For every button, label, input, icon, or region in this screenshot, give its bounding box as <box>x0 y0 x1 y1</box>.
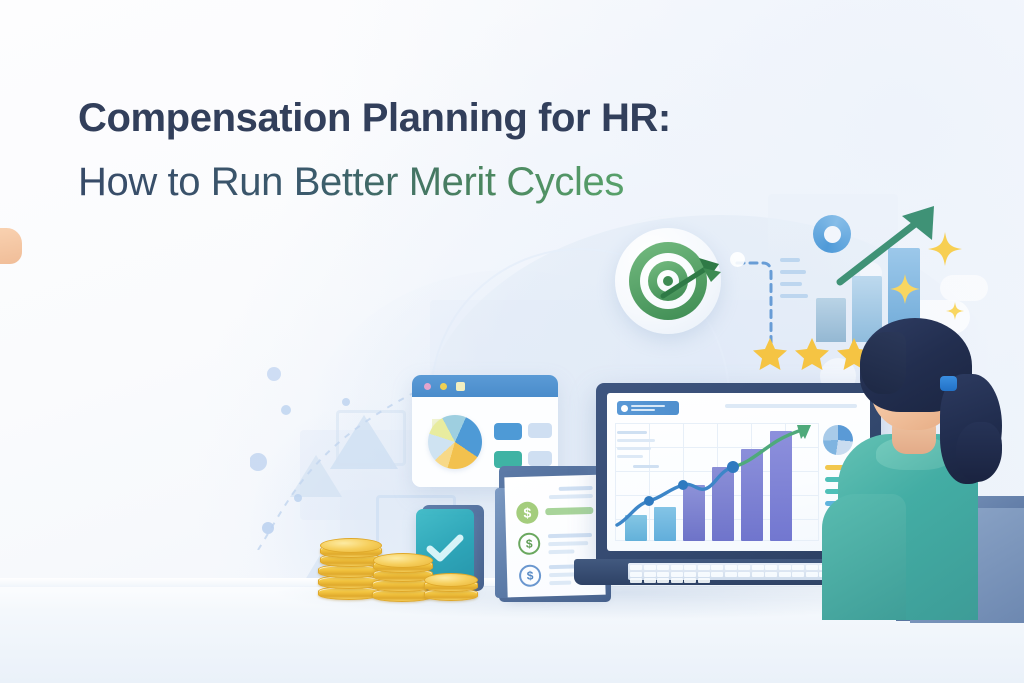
dashboard-plot-grid <box>615 423 819 541</box>
hair-tie <box>940 376 957 391</box>
star-icon-1 <box>752 336 788 372</box>
target-icon <box>615 228 721 334</box>
coin-s1-top <box>320 538 382 553</box>
dashboard-header-badge <box>617 401 679 415</box>
dashboard-header-line-2 <box>631 409 655 411</box>
browser-pie-chart <box>428 415 482 469</box>
coin-s2-top <box>373 553 433 568</box>
person-hand <box>0 228 22 264</box>
money-icon-1: $ <box>516 501 539 524</box>
money-icon-3: $ <box>519 564 542 587</box>
browser-titlebar <box>412 375 558 397</box>
dart-arrow-icon <box>659 254 729 302</box>
hero-banner: $ $ $ <box>0 0 1024 683</box>
headline-line-2: How to Run Better Merit Cycles <box>78 150 768 214</box>
browser-dot-3 <box>456 382 465 391</box>
browser-card-1 <box>494 423 522 440</box>
doc-line-b3 <box>549 581 571 586</box>
doc-line-a2 <box>548 541 588 546</box>
browser-card-2 <box>528 423 552 438</box>
keyboard <box>628 563 840 580</box>
doc-line-a3 <box>548 549 574 554</box>
sparkle-icon-2 <box>890 274 920 304</box>
doc-highlight-line <box>545 507 593 515</box>
doc-header-line-1 <box>559 486 593 491</box>
money-icon-2: $ <box>518 532 541 555</box>
doc-header-line-2 <box>549 494 593 499</box>
browser-dot-1 <box>424 383 431 390</box>
star-icon-2 <box>794 336 830 372</box>
browser-card-4 <box>528 451 552 466</box>
person-hair-fringe <box>860 332 906 394</box>
hero-headline: Compensation Planning for HR: How to Run… <box>78 86 768 214</box>
gold-coin-stacks <box>318 540 478 602</box>
browser-dot-2 <box>440 383 447 390</box>
person-arm <box>822 494 906 620</box>
person-ponytail-curl <box>956 422 1002 482</box>
dashboard-line-series <box>615 423 819 541</box>
coin-s3-top <box>424 573 478 587</box>
dash-endpoint-dot <box>730 252 745 267</box>
dashboard-avatar <box>621 405 628 412</box>
sparkle-icon-1 <box>928 232 962 266</box>
woman-at-desk <box>836 318 1024 618</box>
headline-line-1: Compensation Planning for HR: <box>78 86 768 150</box>
dashboard-header-line-1 <box>631 405 665 407</box>
doc-line-a1 <box>548 533 592 538</box>
